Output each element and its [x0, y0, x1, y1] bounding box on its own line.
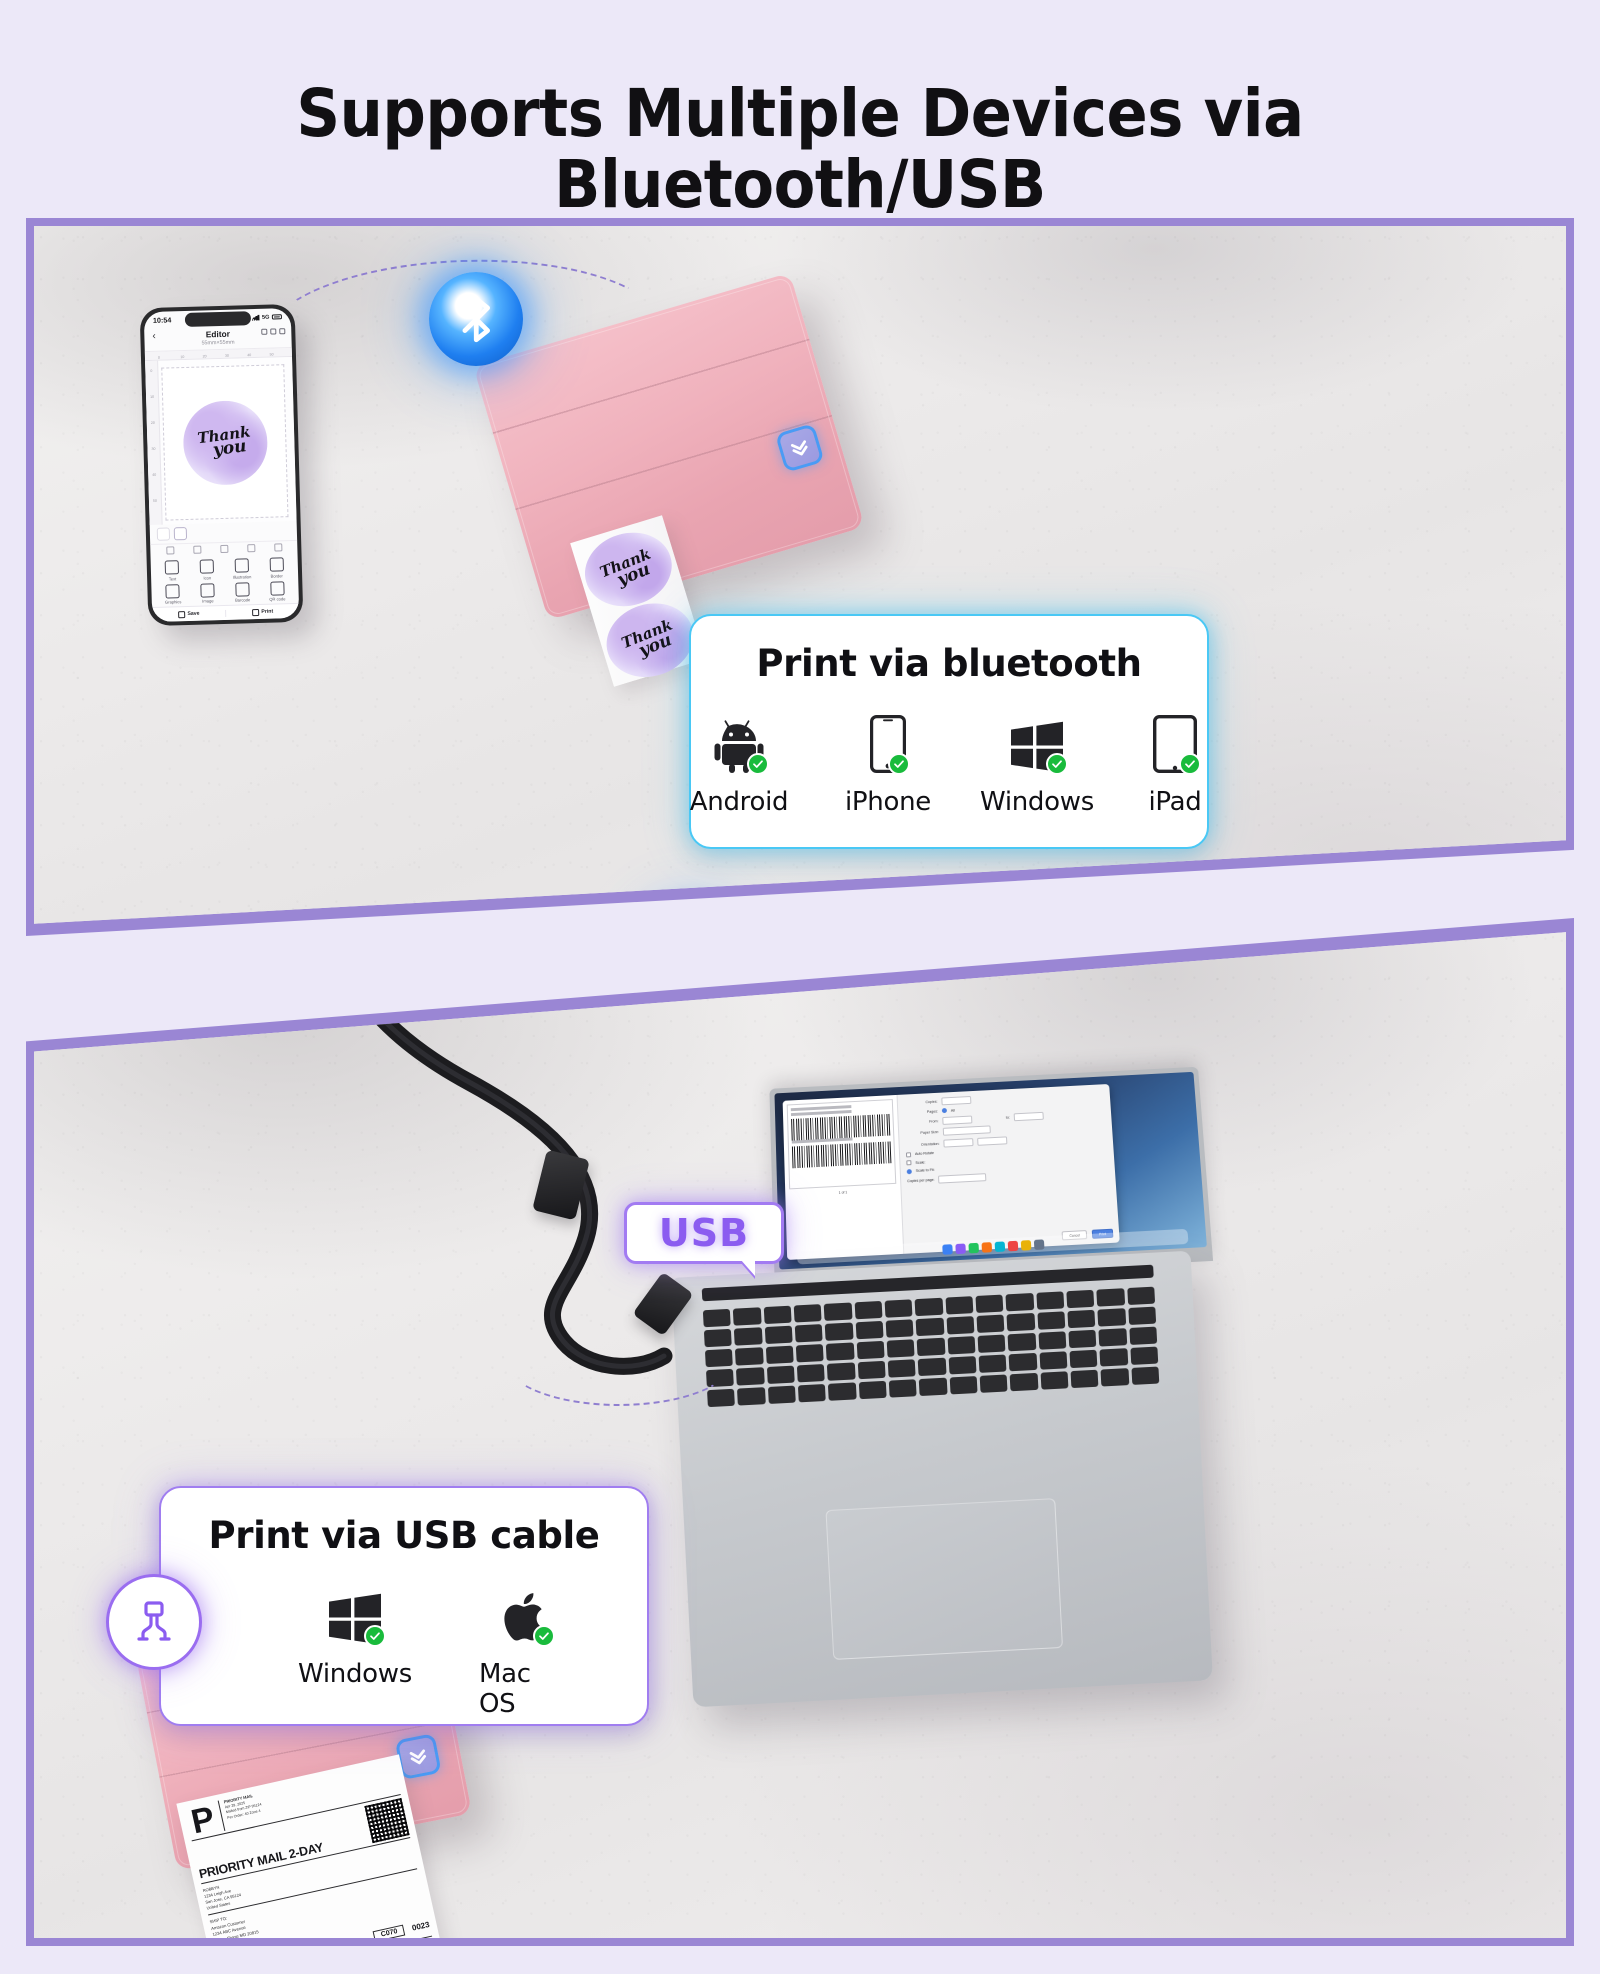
- status-network: 5G: [262, 314, 270, 320]
- check-icon: [1051, 758, 1063, 770]
- key[interactable]: [1131, 1367, 1159, 1385]
- scale-checkbox[interactable]: [906, 1160, 911, 1165]
- bluetooth-feature-card: Print via bluetooth: [689, 614, 1209, 849]
- bluetooth-photo-panel: 10:54 5G ‹ Editor 55mm×55mm: [26, 218, 1574, 936]
- print-preview-pane: 1 of 1: [783, 1095, 905, 1260]
- supported-check-badge: [747, 753, 769, 775]
- ruler-v-tick: 20: [151, 421, 156, 447]
- orientation-portrait-button[interactable]: [943, 1138, 973, 1147]
- usb-cable: [234, 926, 794, 1406]
- key[interactable]: [858, 1381, 886, 1399]
- ruler-h-tick: 10: [180, 354, 202, 359]
- ruler-h-tick: 30: [225, 353, 247, 358]
- ruler-v-tick: 30: [151, 447, 156, 473]
- key[interactable]: [824, 1303, 852, 1321]
- scale-to-fit-label: Scale to Fit:: [916, 1168, 935, 1173]
- lock-icon[interactable]: [247, 544, 255, 552]
- dock-mail-icon[interactable]: [981, 1242, 992, 1253]
- check-icon: [893, 758, 905, 770]
- tool-illustration[interactable]: Illustration: [225, 558, 258, 579]
- text-icon: [165, 560, 179, 574]
- check-icon: [538, 1630, 550, 1642]
- orientation-label: Orientation:: [906, 1141, 940, 1147]
- dock-music-icon[interactable]: [1007, 1240, 1018, 1251]
- icon-grid-icon: [200, 559, 214, 573]
- label-meta: PRIORITY MAIL Apr 29, 2025 Mailed from Z…: [217, 1792, 265, 1832]
- tool-border[interactable]: Border: [260, 557, 293, 578]
- key[interactable]: [1007, 1313, 1035, 1331]
- usb-callout-label: USB: [659, 1211, 749, 1255]
- key[interactable]: [886, 1319, 914, 1337]
- pages-all-radio[interactable]: [942, 1108, 947, 1113]
- transform-icon[interactable]: [174, 527, 187, 540]
- check-icon: [1184, 758, 1196, 770]
- dock-finder-icon[interactable]: [942, 1244, 953, 1255]
- double-chevron-down-icon: [405, 1744, 431, 1770]
- key[interactable]: [857, 1361, 885, 1379]
- tool-grid[interactable]: Text Icon Illustration Border: [151, 554, 299, 607]
- supported-check-badge: [364, 1625, 386, 1647]
- usb-callout-badge: USB: [624, 1202, 784, 1264]
- usb-cable-path: [234, 926, 794, 1406]
- to-label: to:: [976, 1115, 1010, 1121]
- barcode-icon: [235, 582, 249, 596]
- key[interactable]: [1040, 1371, 1068, 1389]
- usb-photo-inner: P PRIORITY MAIL Apr 29, 2025 Mailed from…: [34, 926, 1566, 1938]
- paper-size-select[interactable]: [943, 1126, 991, 1136]
- layer-icon[interactable]: [157, 527, 170, 540]
- key[interactable]: [1010, 1373, 1038, 1391]
- phone-notch: [184, 311, 250, 327]
- tool-label: Border: [271, 573, 283, 578]
- page-title-line2: Bluetooth/USB: [64, 149, 1536, 220]
- ruler-h-tick: 0: [158, 355, 180, 360]
- device-label: Windows: [298, 1659, 412, 1689]
- key[interactable]: [945, 1296, 973, 1314]
- key[interactable]: [946, 1316, 974, 1334]
- key[interactable]: [887, 1339, 915, 1357]
- key[interactable]: [1129, 1327, 1157, 1345]
- graphics-icon: [166, 584, 180, 598]
- key[interactable]: [1008, 1333, 1036, 1351]
- sticker-preview: Thank you: [182, 399, 268, 485]
- vertical-ruler: 0 10 20 30 40 50: [145, 361, 163, 525]
- sticker-text: Thank you: [197, 425, 253, 459]
- device-icon-wrap: [1153, 711, 1197, 773]
- tool-label: Text: [169, 576, 177, 581]
- key[interactable]: [948, 1356, 976, 1374]
- copies-label: Copies:: [904, 1100, 938, 1106]
- tool-label: Illustration: [233, 574, 252, 580]
- key[interactable]: [1067, 1310, 1095, 1328]
- double-chevron-down-icon: [786, 434, 813, 461]
- device-windows: Windows: [989, 711, 1085, 817]
- illustration-icon: [234, 558, 248, 572]
- key[interactable]: [795, 1324, 823, 1342]
- key[interactable]: [1038, 1331, 1066, 1349]
- status-time: 10:54: [153, 315, 172, 325]
- auto-rotate-label: Auto Rotate: [915, 1151, 934, 1156]
- device-macos: Mac OS: [479, 1583, 575, 1719]
- pages-label: Pages:: [904, 1109, 938, 1115]
- image-icon: [200, 583, 214, 597]
- key[interactable]: [1128, 1307, 1156, 1325]
- key[interactable]: [826, 1342, 854, 1360]
- bluetooth-icon: [449, 292, 504, 347]
- copies-input[interactable]: [941, 1096, 971, 1105]
- laptop-display: 1 of 1 Copies: Pages: All: [774, 1072, 1206, 1270]
- chevron-down-icon[interactable]: [274, 543, 282, 551]
- dock-messages-icon[interactable]: [968, 1242, 979, 1253]
- panels-container: 10:54 5G ‹ Editor 55mm×55mm: [26, 218, 1574, 1946]
- supported-check-badge: [533, 1625, 555, 1647]
- bluetooth-badge-bottom: [649, 914, 735, 928]
- key[interactable]: [975, 1295, 1003, 1313]
- tool-barcode[interactable]: Barcode: [226, 582, 259, 603]
- key[interactable]: [827, 1362, 855, 1380]
- tool-label: Image: [202, 598, 214, 603]
- key[interactable]: [1101, 1368, 1129, 1386]
- scale-label: Scale:: [915, 1160, 925, 1164]
- dock-safari-icon[interactable]: [994, 1241, 1005, 1252]
- key[interactable]: [1098, 1308, 1126, 1326]
- key[interactable]: [915, 1298, 943, 1316]
- key[interactable]: [919, 1378, 947, 1396]
- tool-label: Icon: [203, 575, 211, 580]
- tool-qrcode[interactable]: QR code: [261, 581, 294, 602]
- key[interactable]: [1006, 1293, 1034, 1311]
- supported-check-badge: [1046, 753, 1068, 775]
- key[interactable]: [1037, 1311, 1065, 1329]
- tool-icon[interactable]: Icon: [190, 559, 223, 580]
- paper-size-label: Paper Size:: [905, 1130, 939, 1136]
- editor-canvas-area: 0 10 20 30 40 50 Thank you: [145, 357, 297, 525]
- device-iphone: iPhone: [845, 711, 931, 817]
- preview-barcode-icon: [791, 1114, 890, 1141]
- device-icon-wrap: [328, 1583, 382, 1645]
- key[interactable]: [1127, 1287, 1155, 1305]
- ruler-v-tick: 10: [150, 395, 155, 421]
- usb-cable-badge: [106, 1574, 202, 1670]
- ruler-h-tick: 20: [203, 354, 225, 359]
- back-chevron-icon[interactable]: ‹: [152, 332, 156, 342]
- tool-label: Graphics: [165, 599, 182, 604]
- print-label: Print: [261, 609, 273, 615]
- key[interactable]: [889, 1379, 917, 1397]
- key[interactable]: [796, 1344, 824, 1362]
- key[interactable]: [980, 1374, 1008, 1392]
- usb-cable-icon: [130, 1598, 178, 1646]
- dock-notes-icon[interactable]: [1020, 1240, 1031, 1251]
- device-icon-wrap: [503, 1583, 551, 1645]
- key[interactable]: [828, 1382, 856, 1400]
- device-label: Android: [690, 787, 788, 817]
- delete-icon[interactable]: [220, 545, 228, 553]
- device-label: iPhone: [845, 787, 931, 817]
- preview-page-indicator: 1 of 1: [789, 1188, 896, 1198]
- key[interactable]: [1039, 1351, 1067, 1369]
- device-windows-usb: Windows: [307, 1583, 403, 1689]
- ruler-v-tick: 40: [152, 473, 157, 499]
- key[interactable]: [977, 1315, 1005, 1333]
- signal-bars-icon: [251, 314, 259, 320]
- key[interactable]: [797, 1364, 825, 1382]
- tool-label: Barcode: [235, 597, 250, 602]
- trackpad[interactable]: [825, 1498, 1063, 1660]
- to-input[interactable]: [1014, 1112, 1044, 1121]
- page-title-line1: Supports Multiple Devices via: [296, 75, 1303, 152]
- device-label: Mac OS: [479, 1659, 575, 1719]
- device-android: Android: [691, 711, 787, 817]
- save-icon: [178, 611, 185, 618]
- sticker-roll-text: Thank you: [620, 618, 679, 663]
- key[interactable]: [1071, 1370, 1099, 1388]
- bluetooth-card-title: Print via bluetooth: [691, 616, 1207, 685]
- preview-document: [787, 1099, 897, 1189]
- bluetooth-badge-top: [429, 272, 523, 366]
- print-settings-pane: Copies: Pages: All From:: [898, 1084, 1120, 1254]
- key[interactable]: [979, 1354, 1007, 1372]
- usb-card-title: Print via USB cable: [161, 1488, 647, 1557]
- pages-all-label: All: [951, 1108, 955, 1112]
- qr-code-icon: [364, 1798, 409, 1843]
- tool-text[interactable]: Text: [156, 560, 189, 581]
- bluetooth-device-list: Android: [691, 711, 1207, 817]
- key[interactable]: [1069, 1350, 1097, 1368]
- print-icon: [252, 609, 259, 616]
- device-icon-wrap: [870, 711, 906, 773]
- preview-barcode-icon: [792, 1141, 892, 1168]
- copy-icon[interactable]: [193, 546, 201, 554]
- sticker-roll-text: Thank you: [599, 547, 658, 592]
- key[interactable]: [1036, 1291, 1064, 1309]
- print-dialog[interactable]: 1 of 1 Copies: Pages: All: [783, 1084, 1120, 1260]
- key[interactable]: [885, 1299, 913, 1317]
- key[interactable]: [918, 1358, 946, 1376]
- key[interactable]: [1068, 1330, 1096, 1348]
- supported-check-badge: [1179, 753, 1201, 775]
- save-label: Save: [187, 611, 199, 617]
- usb-feature-card: Print via USB cable: [159, 1486, 649, 1726]
- check-icon: [369, 1630, 381, 1642]
- key[interactable]: [947, 1336, 975, 1354]
- route-number: 0023: [411, 1920, 430, 1933]
- dock-settings-icon[interactable]: [1033, 1239, 1044, 1250]
- key[interactable]: [949, 1376, 977, 1394]
- laptop-screen: 1 of 1 Copies: Pages: All: [769, 1067, 1213, 1284]
- auto-rotate-checkbox[interactable]: [906, 1152, 911, 1157]
- printer-feed-button[interactable]: [775, 423, 825, 473]
- dock-launchpad-icon[interactable]: [955, 1243, 966, 1254]
- key[interactable]: [854, 1301, 882, 1319]
- border-icon: [269, 557, 283, 571]
- key[interactable]: [1099, 1328, 1127, 1346]
- copies-per-page-select[interactable]: [938, 1173, 986, 1183]
- key[interactable]: [798, 1384, 826, 1402]
- device-ipad: iPad: [1143, 711, 1207, 817]
- usb-photo-panel: P PRIORITY MAIL Apr 29, 2025 Mailed from…: [26, 918, 1574, 1946]
- usb-device-list: Windows: [161, 1583, 647, 1719]
- key[interactable]: [978, 1335, 1006, 1353]
- scale-to-fit-radio[interactable]: [907, 1169, 912, 1174]
- key[interactable]: [855, 1321, 883, 1339]
- from-label: From:: [905, 1119, 939, 1125]
- key[interactable]: [916, 1318, 944, 1336]
- from-input[interactable]: [942, 1115, 972, 1124]
- sticker-circle: Thank you: [576, 522, 681, 617]
- qr-code-icon: [270, 581, 284, 595]
- save-button[interactable]: Save: [152, 609, 225, 618]
- key[interactable]: [917, 1338, 945, 1356]
- supported-check-badge: [888, 753, 910, 775]
- key[interactable]: [825, 1322, 853, 1340]
- copies-per-page-label: Copies per page:: [907, 1178, 935, 1183]
- key[interactable]: [794, 1304, 822, 1322]
- ruler-v-tick: 0: [150, 369, 153, 395]
- key[interactable]: [1009, 1353, 1037, 1371]
- app-footer[interactable]: Save Print: [152, 603, 299, 622]
- key[interactable]: [856, 1341, 884, 1359]
- device-label: iPad: [1148, 787, 1201, 817]
- device-icon-wrap: [713, 711, 765, 773]
- key[interactable]: [888, 1359, 916, 1377]
- key[interactable]: [1130, 1347, 1158, 1365]
- orientation-landscape-button[interactable]: [977, 1136, 1007, 1145]
- ruler-v-tick: 50: [153, 499, 158, 525]
- tool-image[interactable]: Image: [191, 582, 224, 603]
- design-canvas[interactable]: Thank you: [161, 364, 288, 520]
- check-icon: [752, 758, 764, 770]
- key[interactable]: [1100, 1348, 1128, 1366]
- device-icon-wrap: [1010, 711, 1064, 773]
- page-title: Supports Multiple Devices via Bluetooth/…: [64, 78, 1536, 221]
- tool-graphics[interactable]: Graphics: [156, 583, 189, 604]
- align-icon[interactable]: [166, 546, 174, 554]
- key[interactable]: [1097, 1288, 1125, 1306]
- print-button[interactable]: Print: [226, 607, 299, 616]
- key[interactable]: [1066, 1290, 1094, 1308]
- tool-label: QR code: [269, 596, 285, 601]
- bluetooth-photo-inner: 10:54 5G ‹ Editor 55mm×55mm: [34, 226, 1566, 928]
- device-label: Windows: [980, 787, 1094, 817]
